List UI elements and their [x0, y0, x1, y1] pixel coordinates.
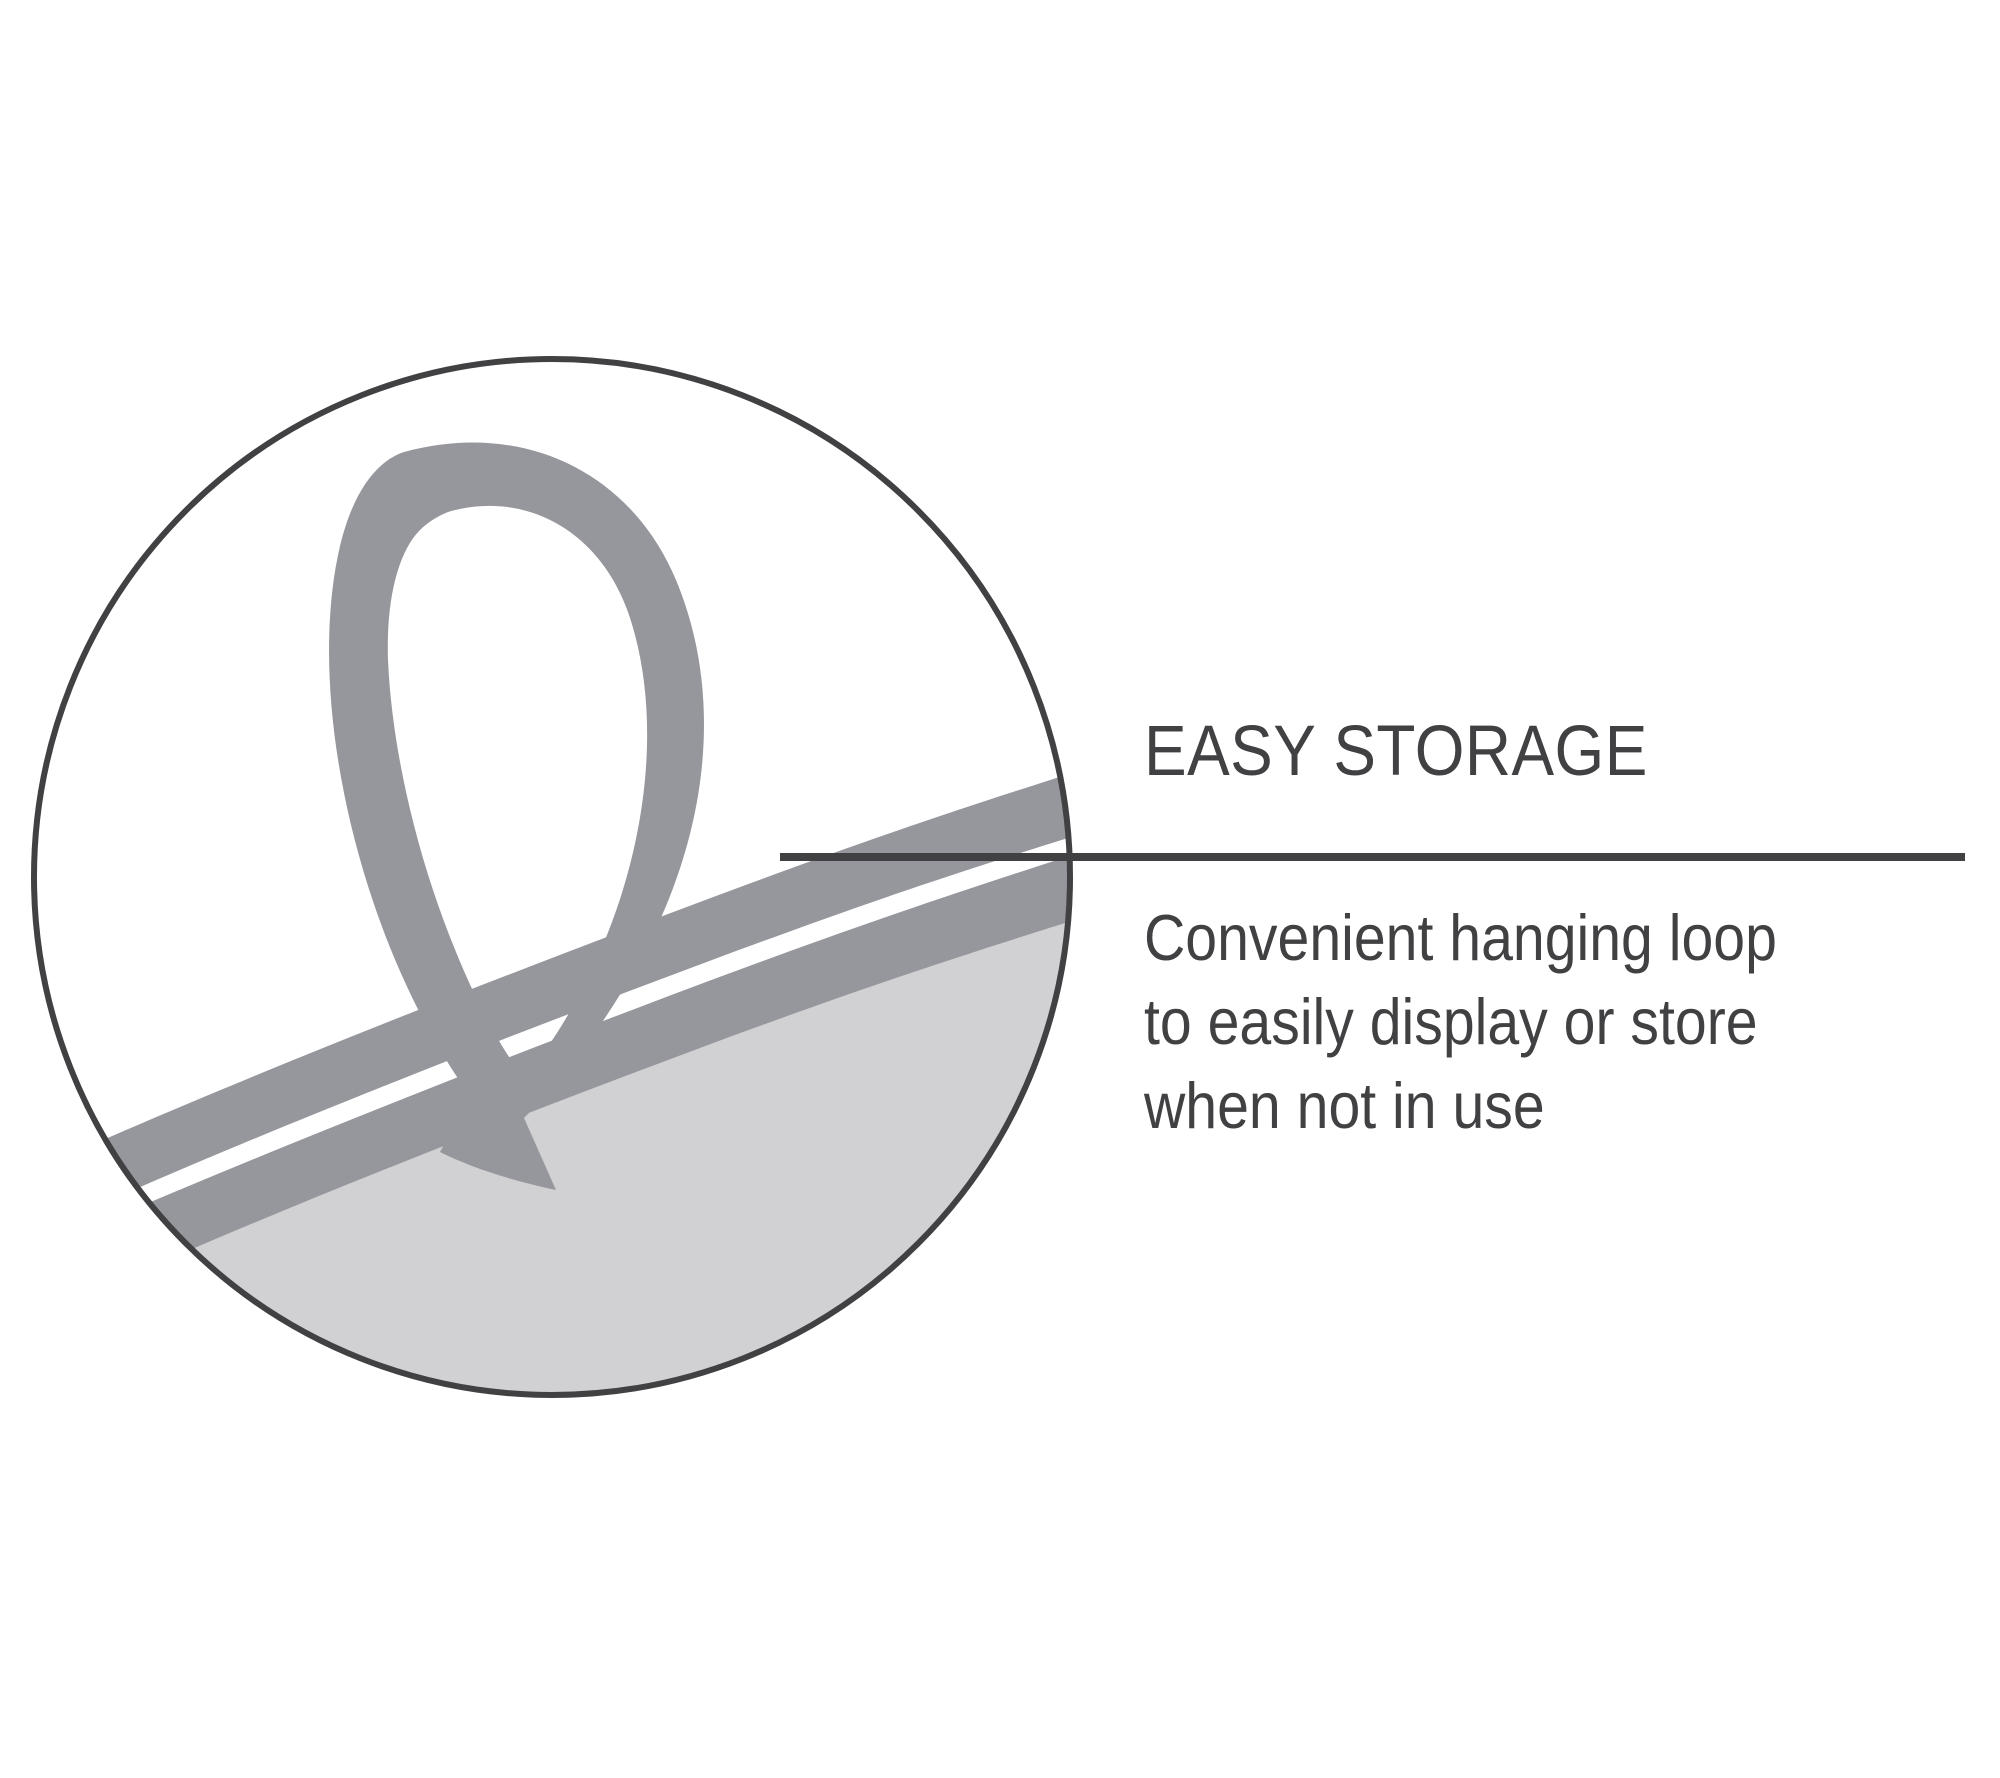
- callout-text-block: EASY STORAGE Convenient hanging loop to …: [1144, 716, 1964, 787]
- callout-body: Convenient hanging loop to easily displa…: [1144, 896, 1901, 1148]
- callout-body-line: Convenient hanging loop: [1144, 896, 1901, 980]
- product-detail-illustration: [0, 0, 1120, 1778]
- circle-contents: [0, 442, 1120, 1500]
- callout-body-line: when not in use: [1144, 1064, 1901, 1148]
- callout-body-line: to easily display or store: [1144, 980, 1901, 1064]
- callout-leader-line: [780, 853, 1965, 861]
- feature-callout-card: EASY STORAGE Convenient hanging loop to …: [0, 0, 2000, 1778]
- callout-heading: EASY STORAGE: [1144, 716, 1882, 787]
